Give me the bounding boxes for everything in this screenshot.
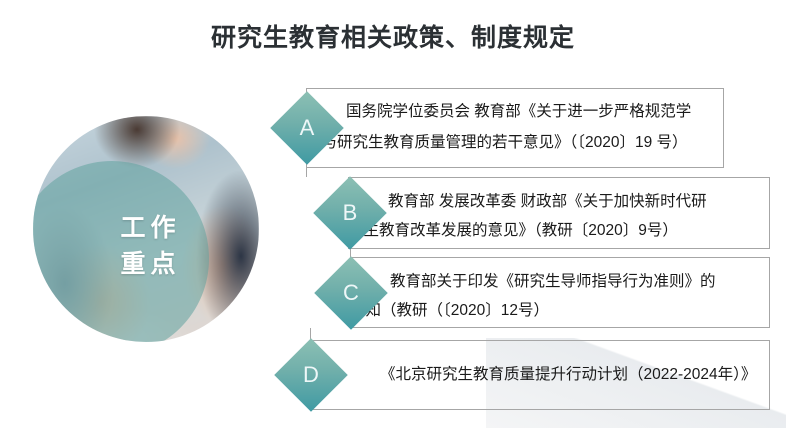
policy-row-b-text-1: 教育部 发展改革委 财政部《关于加快新时代研 [388, 193, 707, 210]
policy-row-b-line-1: 教育部 发展改革委 财政部《关于加快新时代研 [368, 186, 707, 217]
policy-row-a-text-2: 位与研究生教育质量管理的若干意见》（〔2020〕19 号） [306, 134, 688, 151]
policy-row-c-text-2: 通知（教研（〔2020〕12号） [350, 302, 549, 319]
policy-badge-a-letter: A [281, 102, 333, 154]
work-focus-line-1: 工作 [115, 215, 180, 241]
work-focus-caption: 工作 重点 [33, 116, 259, 342]
policy-row-a-line-1: 国务院学位委员会 教育部《关于进一步严格规范学 [326, 96, 691, 127]
policy-row-c-text-1: 教育部关于印发《研究生导师指导行为准则》的 [390, 273, 716, 290]
connector-a-b [306, 168, 307, 177]
page-title: 研究生教育相关政策、制度规定 [0, 18, 786, 54]
policy-badge-b-letter: B [324, 187, 376, 239]
policy-row-a-line-2: 位与研究生教育质量管理的若干意见》（〔2020〕19 号） [306, 127, 688, 158]
policy-row-b-text-2: 究生教育改革发展的意见》（教研〔2020〕9号） [348, 222, 678, 239]
slide-canvas: 研究生教育相关政策、制度规定 工作 重点 国务院学位委员会 教育部《关于进一步严… [0, 0, 786, 428]
policy-row-d-line-1: 《北京研究生教育质量提升行动计划（2022-2024年）》 [380, 359, 756, 390]
work-focus-circle: 工作 重点 [33, 116, 259, 342]
policy-row-b-line-2: 究生教育改革发展的意见》（教研〔2020〕9号） [348, 215, 678, 246]
policy-row-d-text-1: 《北京研究生教育质量提升行动计划（2022-2024年）》 [380, 366, 756, 383]
policy-badge-d-letter: D [285, 349, 337, 401]
work-focus-line-2: 重点 [115, 251, 180, 277]
policy-badge-c-letter: C [325, 267, 377, 319]
policy-row-c-line-1: 教育部关于印发《研究生导师指导行为准则》的 [370, 266, 716, 297]
policy-row-a-text-1: 国务院学位委员会 教育部《关于进一步严格规范学 [346, 103, 691, 120]
